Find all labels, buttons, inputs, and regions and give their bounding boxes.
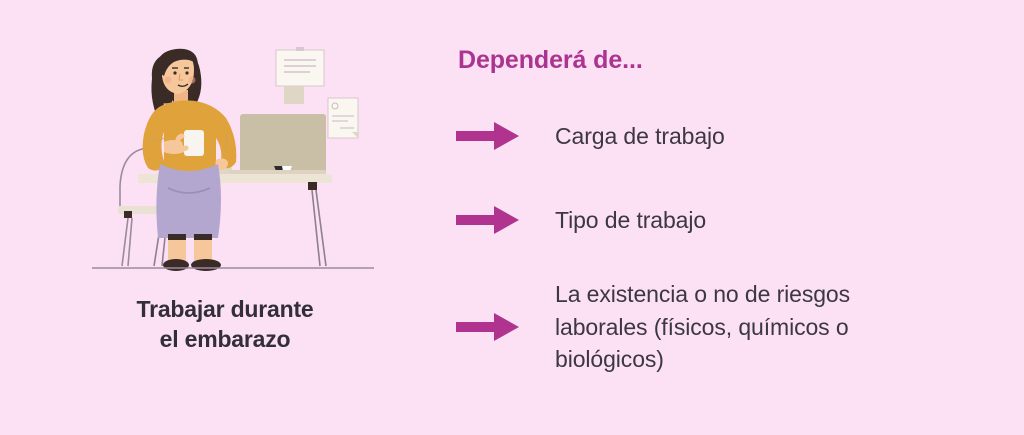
arrow-right-icon [456, 312, 520, 342]
pregnant-woman-at-desk-illustration [88, 38, 378, 288]
list-item: La existencia o no de riesgos laborales … [440, 272, 1024, 382]
caption-line-2: el embarazo [60, 324, 390, 354]
list-item: Tipo de trabajo [440, 198, 1024, 242]
list-item-text: Carga de trabajo [555, 120, 725, 153]
desktop-monitor-icon [240, 114, 326, 178]
illustration-column: Trabajar durante el embarazo [0, 0, 440, 435]
details-column: Dependerá de... Carga de trabajo Tipo de… [440, 0, 1024, 435]
wall-paper-doc-icon [328, 98, 358, 138]
list-item-line: La existencia o no de riesgos [555, 278, 850, 311]
arrow-right-icon [456, 205, 520, 235]
list-item-line: Carga de trabajo [555, 120, 725, 153]
arrow-cell [440, 121, 555, 151]
arrow-right-icon [456, 121, 520, 151]
caption-line-1: Trabajar durante [60, 294, 390, 324]
list-item-text: La existencia o no de riesgos laborales … [555, 278, 850, 376]
wall-paper-note-icon [276, 47, 324, 104]
list-item-line: laborales (físicos, químicos o [555, 311, 850, 344]
woman-figure [143, 49, 237, 271]
arrow-cell [440, 205, 555, 235]
illustration-caption: Trabajar durante el embarazo [60, 294, 390, 355]
infographic-page: Trabajar durante el embarazo Dependerá d… [0, 0, 1024, 435]
list-item-text: Tipo de trabajo [555, 204, 706, 237]
list-item-line: Tipo de trabajo [555, 204, 706, 237]
section-heading: Dependerá de... [458, 46, 643, 75]
arrow-cell [440, 312, 555, 342]
list-item: Carga de trabajo [440, 114, 1024, 158]
list-item-line: biológicos) [555, 343, 850, 376]
